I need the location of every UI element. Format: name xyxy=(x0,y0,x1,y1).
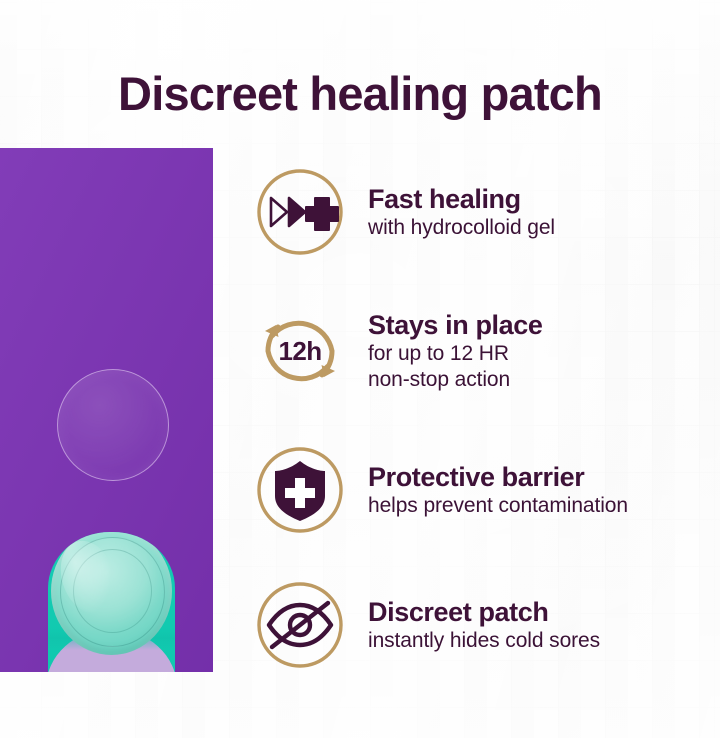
feature-text-stays-in-place: Stays in place for up to 12 HR non-stop … xyxy=(348,310,720,393)
healing-patch-disc xyxy=(57,369,169,481)
feature-sub-line: non-stop action xyxy=(368,367,720,393)
feature-row-discreet-patch: Discreet patch instantly hides cold sore… xyxy=(252,577,720,673)
feature-list: Fast healing with hydrocolloid gel 12h S… xyxy=(252,164,720,673)
feature-heading: Protective barrier xyxy=(368,462,720,493)
product-panel xyxy=(0,148,213,672)
feature-sub-line: helps prevent contamination xyxy=(368,493,720,519)
cycle-12h-icon: 12h xyxy=(252,303,348,399)
eye-slash-icon xyxy=(252,577,348,673)
feature-sub-line: with hydrocolloid gel xyxy=(368,215,720,241)
page-title: Discreet healing patch xyxy=(0,69,720,120)
feature-sub-line: instantly hides cold sores xyxy=(368,628,720,654)
infographic-root: Discreet healing patch xyxy=(0,0,720,738)
shield-cross-icon xyxy=(252,442,348,538)
feature-text-fast-healing: Fast healing with hydrocolloid gel xyxy=(348,184,720,241)
feature-heading: Stays in place xyxy=(368,310,720,341)
icon-badge-12h: 12h xyxy=(278,336,321,367)
feature-row-protective-barrier: Protective barrier helps prevent contami… xyxy=(252,442,720,538)
patch-container xyxy=(48,532,175,672)
feature-heading: Discreet patch xyxy=(368,597,720,628)
feature-row-fast-healing: Fast healing with hydrocolloid gel xyxy=(252,164,720,260)
feature-sub-line: for up to 12 HR xyxy=(368,341,720,367)
feature-text-protective-barrier: Protective barrier helps prevent contami… xyxy=(348,462,720,519)
feature-text-discreet-patch: Discreet patch instantly hides cold sore… xyxy=(348,597,720,654)
feature-row-stays-in-place: 12h Stays in place for up to 12 HR non-s… xyxy=(252,299,720,403)
feature-heading: Fast healing xyxy=(368,184,720,215)
fast-forward-plus-icon xyxy=(252,164,348,260)
